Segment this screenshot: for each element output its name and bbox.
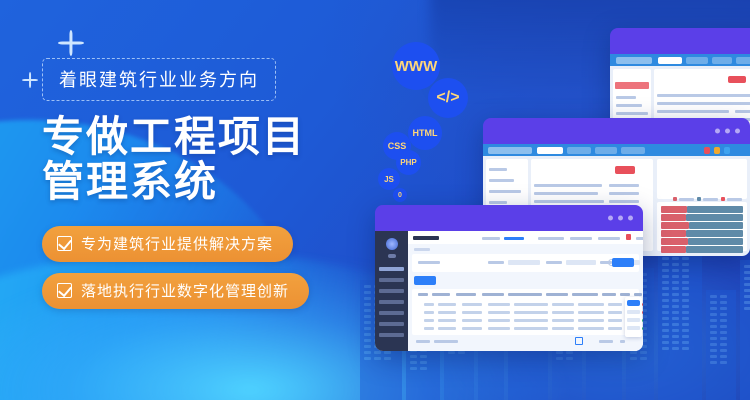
list-row-date xyxy=(609,192,639,195)
feature-pill[interactable]: 落地执行行业数字化管理创新 xyxy=(42,273,309,309)
table-cell xyxy=(424,311,434,314)
window-content xyxy=(375,231,643,351)
table-cell xyxy=(462,311,482,314)
app-main-area xyxy=(408,231,643,351)
headline-block: 着眼建筑行业业务方向 专做工程项目 管理系统 专为建筑行业提供解决方案 落地执行… xyxy=(42,58,362,320)
window-titlebar xyxy=(375,205,643,231)
action-menu[interactable] xyxy=(625,297,642,337)
table-cell xyxy=(514,311,548,314)
table-cell xyxy=(608,319,622,322)
table-row[interactable] xyxy=(418,301,635,307)
app-toolbar xyxy=(483,144,750,156)
list-row xyxy=(657,94,743,97)
sidebar-row[interactable] xyxy=(616,96,636,99)
table-cell xyxy=(438,319,456,322)
window-titlebar xyxy=(483,118,750,144)
chart-bar-segment xyxy=(661,238,688,245)
sidebar-item[interactable] xyxy=(379,322,404,326)
list-row xyxy=(657,102,744,105)
table-cell xyxy=(424,319,434,322)
legend-label xyxy=(679,198,694,201)
legend-marker xyxy=(673,197,677,201)
tech-bubble-js: JS xyxy=(378,168,400,190)
list-row-date xyxy=(735,94,750,97)
table-cell xyxy=(578,327,604,330)
add-button[interactable] xyxy=(414,276,436,285)
table-column-header xyxy=(572,293,598,296)
sparkle-icon xyxy=(58,30,84,56)
table-cell xyxy=(552,311,574,314)
checkbox-checked-icon xyxy=(57,283,72,298)
tech-bubble-html: HTML xyxy=(408,116,442,150)
chart-bar-segment xyxy=(661,206,687,213)
table-cell xyxy=(578,311,604,314)
tech-bubble-php: PHP xyxy=(396,150,421,175)
filter-panel xyxy=(412,254,639,272)
chart-bar-segment xyxy=(686,230,743,237)
window-controls[interactable] xyxy=(715,129,740,134)
list-row xyxy=(657,110,729,113)
feature-pill-list: 专为建筑行业提供解决方案 落地执行行业数字化管理创新 xyxy=(42,226,362,309)
list-row xyxy=(534,200,604,203)
table-cell xyxy=(488,303,510,306)
chart-bar-segment xyxy=(661,246,686,253)
feature-pill-label: 落地执行行业数字化管理创新 xyxy=(81,280,289,301)
table-cell xyxy=(608,327,622,330)
sidebar-item[interactable] xyxy=(379,311,404,315)
table-cell xyxy=(514,327,548,330)
mock-window-main[interactable] xyxy=(375,205,643,351)
table-cell xyxy=(514,303,548,306)
checkbox-checked-icon xyxy=(57,236,72,251)
list-row-date xyxy=(609,184,639,187)
table-cell xyxy=(424,303,434,306)
table-cell xyxy=(608,303,622,306)
table-cell xyxy=(438,327,456,330)
sidebar-row[interactable] xyxy=(489,168,507,171)
table-column-header xyxy=(456,293,476,296)
chart-bar-segment xyxy=(661,230,686,237)
table-cell xyxy=(578,319,604,322)
list-row-date xyxy=(735,110,750,113)
chart-bar-segment xyxy=(661,214,686,221)
table-cell xyxy=(552,327,574,330)
promotional-banner: WWW</>HTMLCSSPHPJS0 着眼建筑行业业务方向 专做工程项目 管理… xyxy=(0,0,750,400)
table-cell xyxy=(462,303,482,306)
app-logo-icon xyxy=(386,238,398,250)
table-cell xyxy=(488,311,510,314)
table-column-header xyxy=(620,293,630,296)
page-title: 专做工程项目 管理系统 xyxy=(42,115,362,204)
table-column-header xyxy=(546,293,568,296)
sidebar-row[interactable] xyxy=(489,201,507,204)
legend-marker xyxy=(721,197,725,201)
table-cell xyxy=(552,303,574,306)
table-column-header xyxy=(418,293,428,296)
sidebar-item[interactable] xyxy=(379,278,404,282)
window-controls[interactable] xyxy=(608,216,633,221)
table-row[interactable] xyxy=(418,309,635,315)
app-logo-subtitle xyxy=(388,254,396,258)
legend-label xyxy=(703,198,718,201)
tech-bubble-www: WWW xyxy=(392,42,440,90)
headline-line-2: 管理系统 xyxy=(42,160,362,205)
table-row[interactable] xyxy=(418,325,635,331)
table-column-header xyxy=(634,293,642,296)
table-cell xyxy=(462,319,482,322)
table-cell xyxy=(608,311,622,314)
legend-marker xyxy=(697,197,701,201)
feature-pill[interactable]: 专为建筑行业提供解决方案 xyxy=(42,226,293,262)
headline-line-1: 专做工程项目 xyxy=(42,113,306,160)
list-row-date xyxy=(609,200,639,203)
app-toolbar xyxy=(610,54,750,66)
sidebar-row[interactable] xyxy=(489,190,521,193)
chart-bar-segment xyxy=(687,206,743,213)
chart-bar-segment xyxy=(689,222,743,229)
chart-bar-segment xyxy=(661,222,689,229)
table-column-header xyxy=(482,293,504,296)
table-cell xyxy=(514,319,548,322)
chart-bar-segment xyxy=(688,238,743,245)
tagline-text: 着眼建筑行业业务方向 xyxy=(59,70,259,90)
sidebar-item[interactable] xyxy=(379,300,404,304)
list-row xyxy=(534,192,598,195)
table-column-header xyxy=(432,293,450,296)
table-column-header xyxy=(508,293,542,296)
sidebar-row[interactable] xyxy=(616,112,648,115)
table-row[interactable] xyxy=(418,317,635,323)
table-cell xyxy=(438,311,456,314)
app-header xyxy=(408,231,643,244)
list-row-date xyxy=(735,102,750,105)
table-cell xyxy=(424,327,434,330)
chart-bar-segment xyxy=(686,246,743,253)
sidebar-item[interactable] xyxy=(379,333,404,337)
tech-bubble-: </> xyxy=(428,78,468,118)
tagline-box: 着眼建筑行业业务方向 xyxy=(42,58,276,101)
chart-bar-segment xyxy=(686,214,743,221)
data-table xyxy=(412,289,639,335)
sidebar-row[interactable] xyxy=(616,104,642,107)
table-cell xyxy=(488,319,510,322)
tech-bubble-0: 0 xyxy=(393,188,407,202)
table-cell xyxy=(578,303,604,306)
app-sidebar[interactable] xyxy=(375,231,408,351)
sidebar-item[interactable] xyxy=(379,267,404,271)
sparkle-icon xyxy=(22,72,38,88)
sidebar-item[interactable] xyxy=(379,289,404,293)
search-button[interactable] xyxy=(612,258,634,267)
feature-pill-label: 专为建筑行业提供解决方案 xyxy=(81,233,273,254)
legend-label xyxy=(727,198,742,201)
table-cell xyxy=(438,303,456,306)
table-cell xyxy=(488,327,510,330)
table-column-header xyxy=(602,293,616,296)
table-cell xyxy=(462,327,482,330)
list-row xyxy=(534,184,602,187)
window-titlebar xyxy=(610,28,750,54)
table-cell xyxy=(552,319,574,322)
sidebar-row[interactable] xyxy=(489,179,514,182)
